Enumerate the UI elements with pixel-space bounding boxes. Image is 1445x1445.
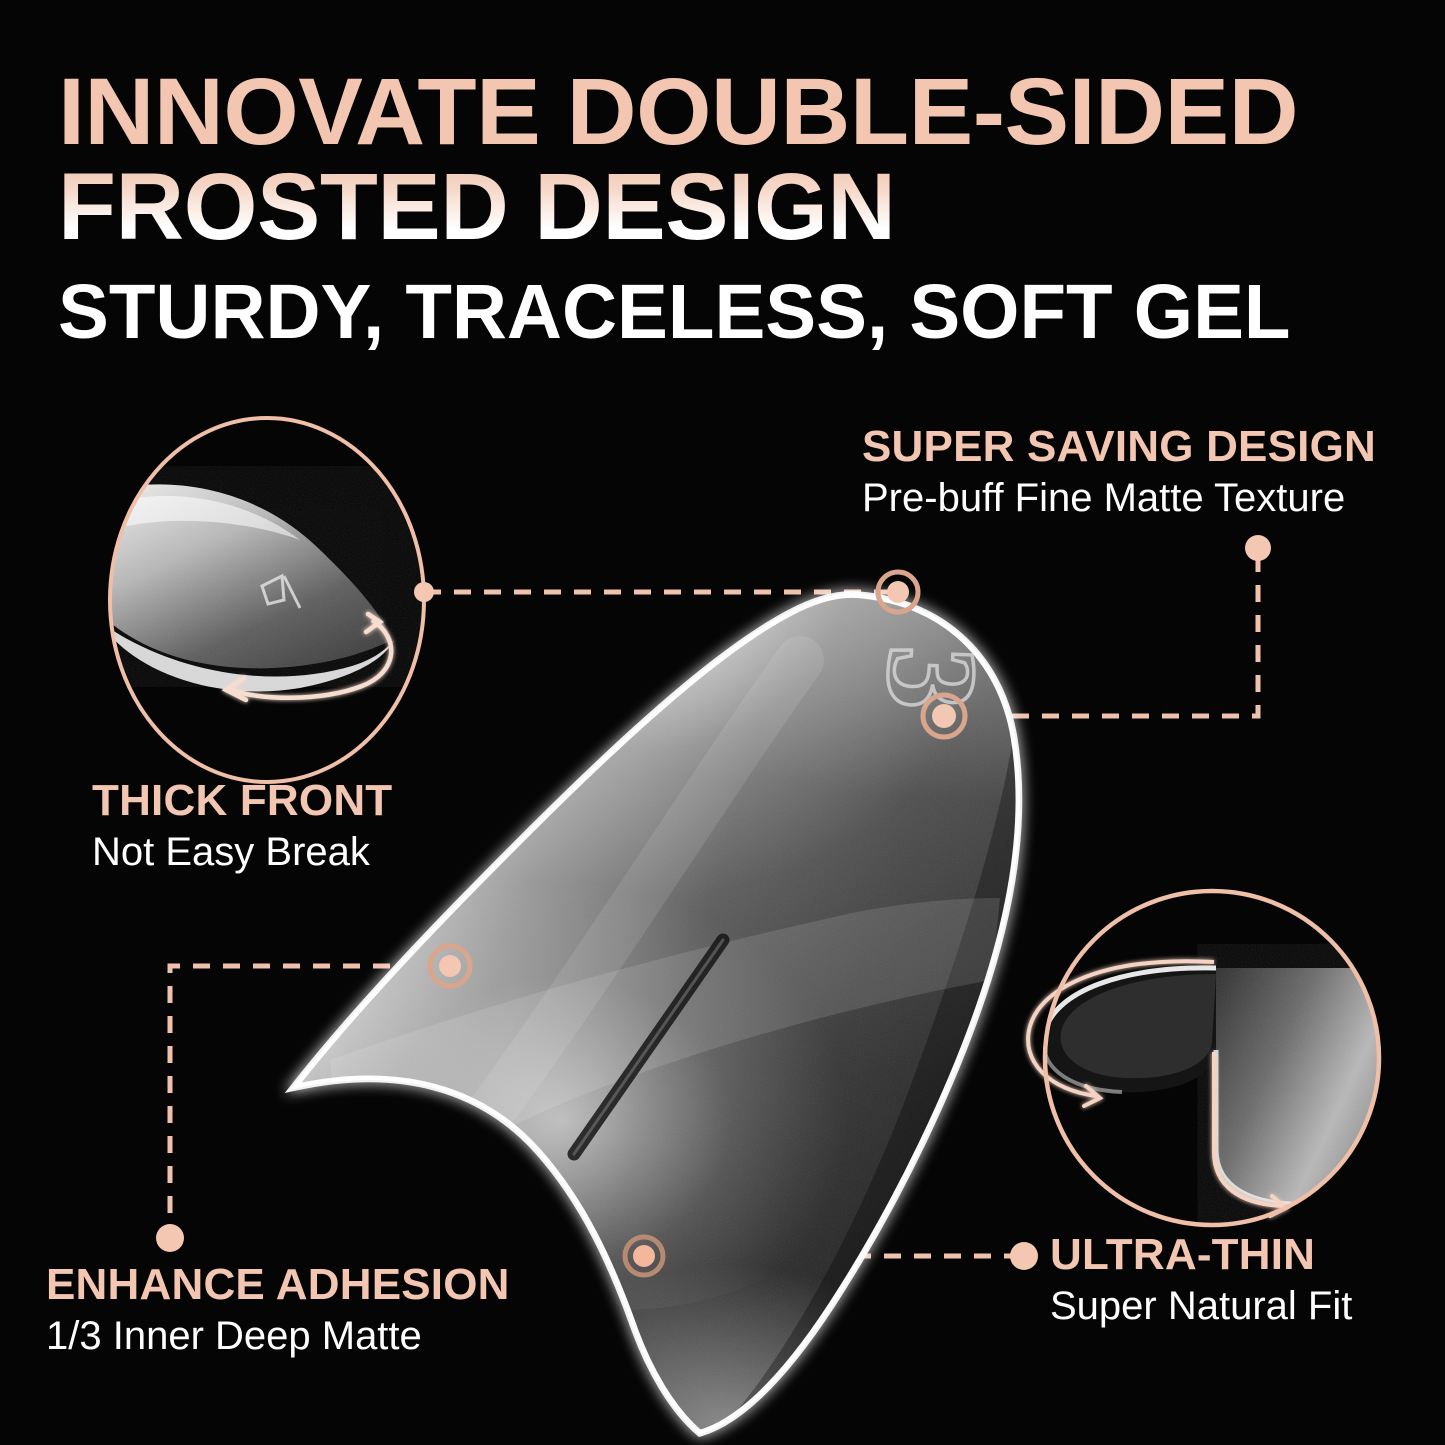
callout-enhance-adhesion: ENHANCE ADHESION 1/3 Inner Deep Matte — [46, 1262, 510, 1360]
callout-subtitle: Not Easy Break — [92, 829, 392, 876]
callout-title: ENHANCE ADHESION — [46, 1262, 510, 1309]
product-illustration: 3 — [0, 0, 1445, 1445]
node-label-ultra-thin — [1010, 1242, 1038, 1270]
svg-text:3: 3 — [860, 644, 1004, 713]
infographic-canvas: INNOVATE DOUBLE-SIDED FROSTED DESIGN STU… — [0, 0, 1445, 1445]
node-label-super-saving — [1245, 535, 1271, 561]
callout-ultra-thin: ULTRA-THIN Super Natural Fit — [1050, 1232, 1352, 1330]
callout-subtitle: 1/3 Inner Deep Matte — [46, 1313, 510, 1360]
callout-subtitle: Super Natural Fit — [1050, 1283, 1352, 1330]
thick-front-inset — [78, 418, 434, 782]
callout-title: THICK FRONT — [92, 778, 392, 825]
callout-super-saving-design: SUPER SAVING DESIGN Pre-buff Fine Matte … — [862, 424, 1376, 522]
callout-subtitle: Pre-buff Fine Matte Texture — [862, 475, 1376, 522]
size-marking-3: 3 — [860, 644, 1004, 713]
node-label-enhance — [156, 1224, 184, 1252]
callout-title: SUPER SAVING DESIGN — [862, 424, 1376, 471]
callout-title: ULTRA-THIN — [1050, 1232, 1352, 1279]
callout-thick-front: THICK FRONT Not Easy Break — [92, 778, 392, 876]
ultra-thin-inset — [1028, 891, 1400, 1225]
connector-node-inset1 — [414, 582, 434, 602]
